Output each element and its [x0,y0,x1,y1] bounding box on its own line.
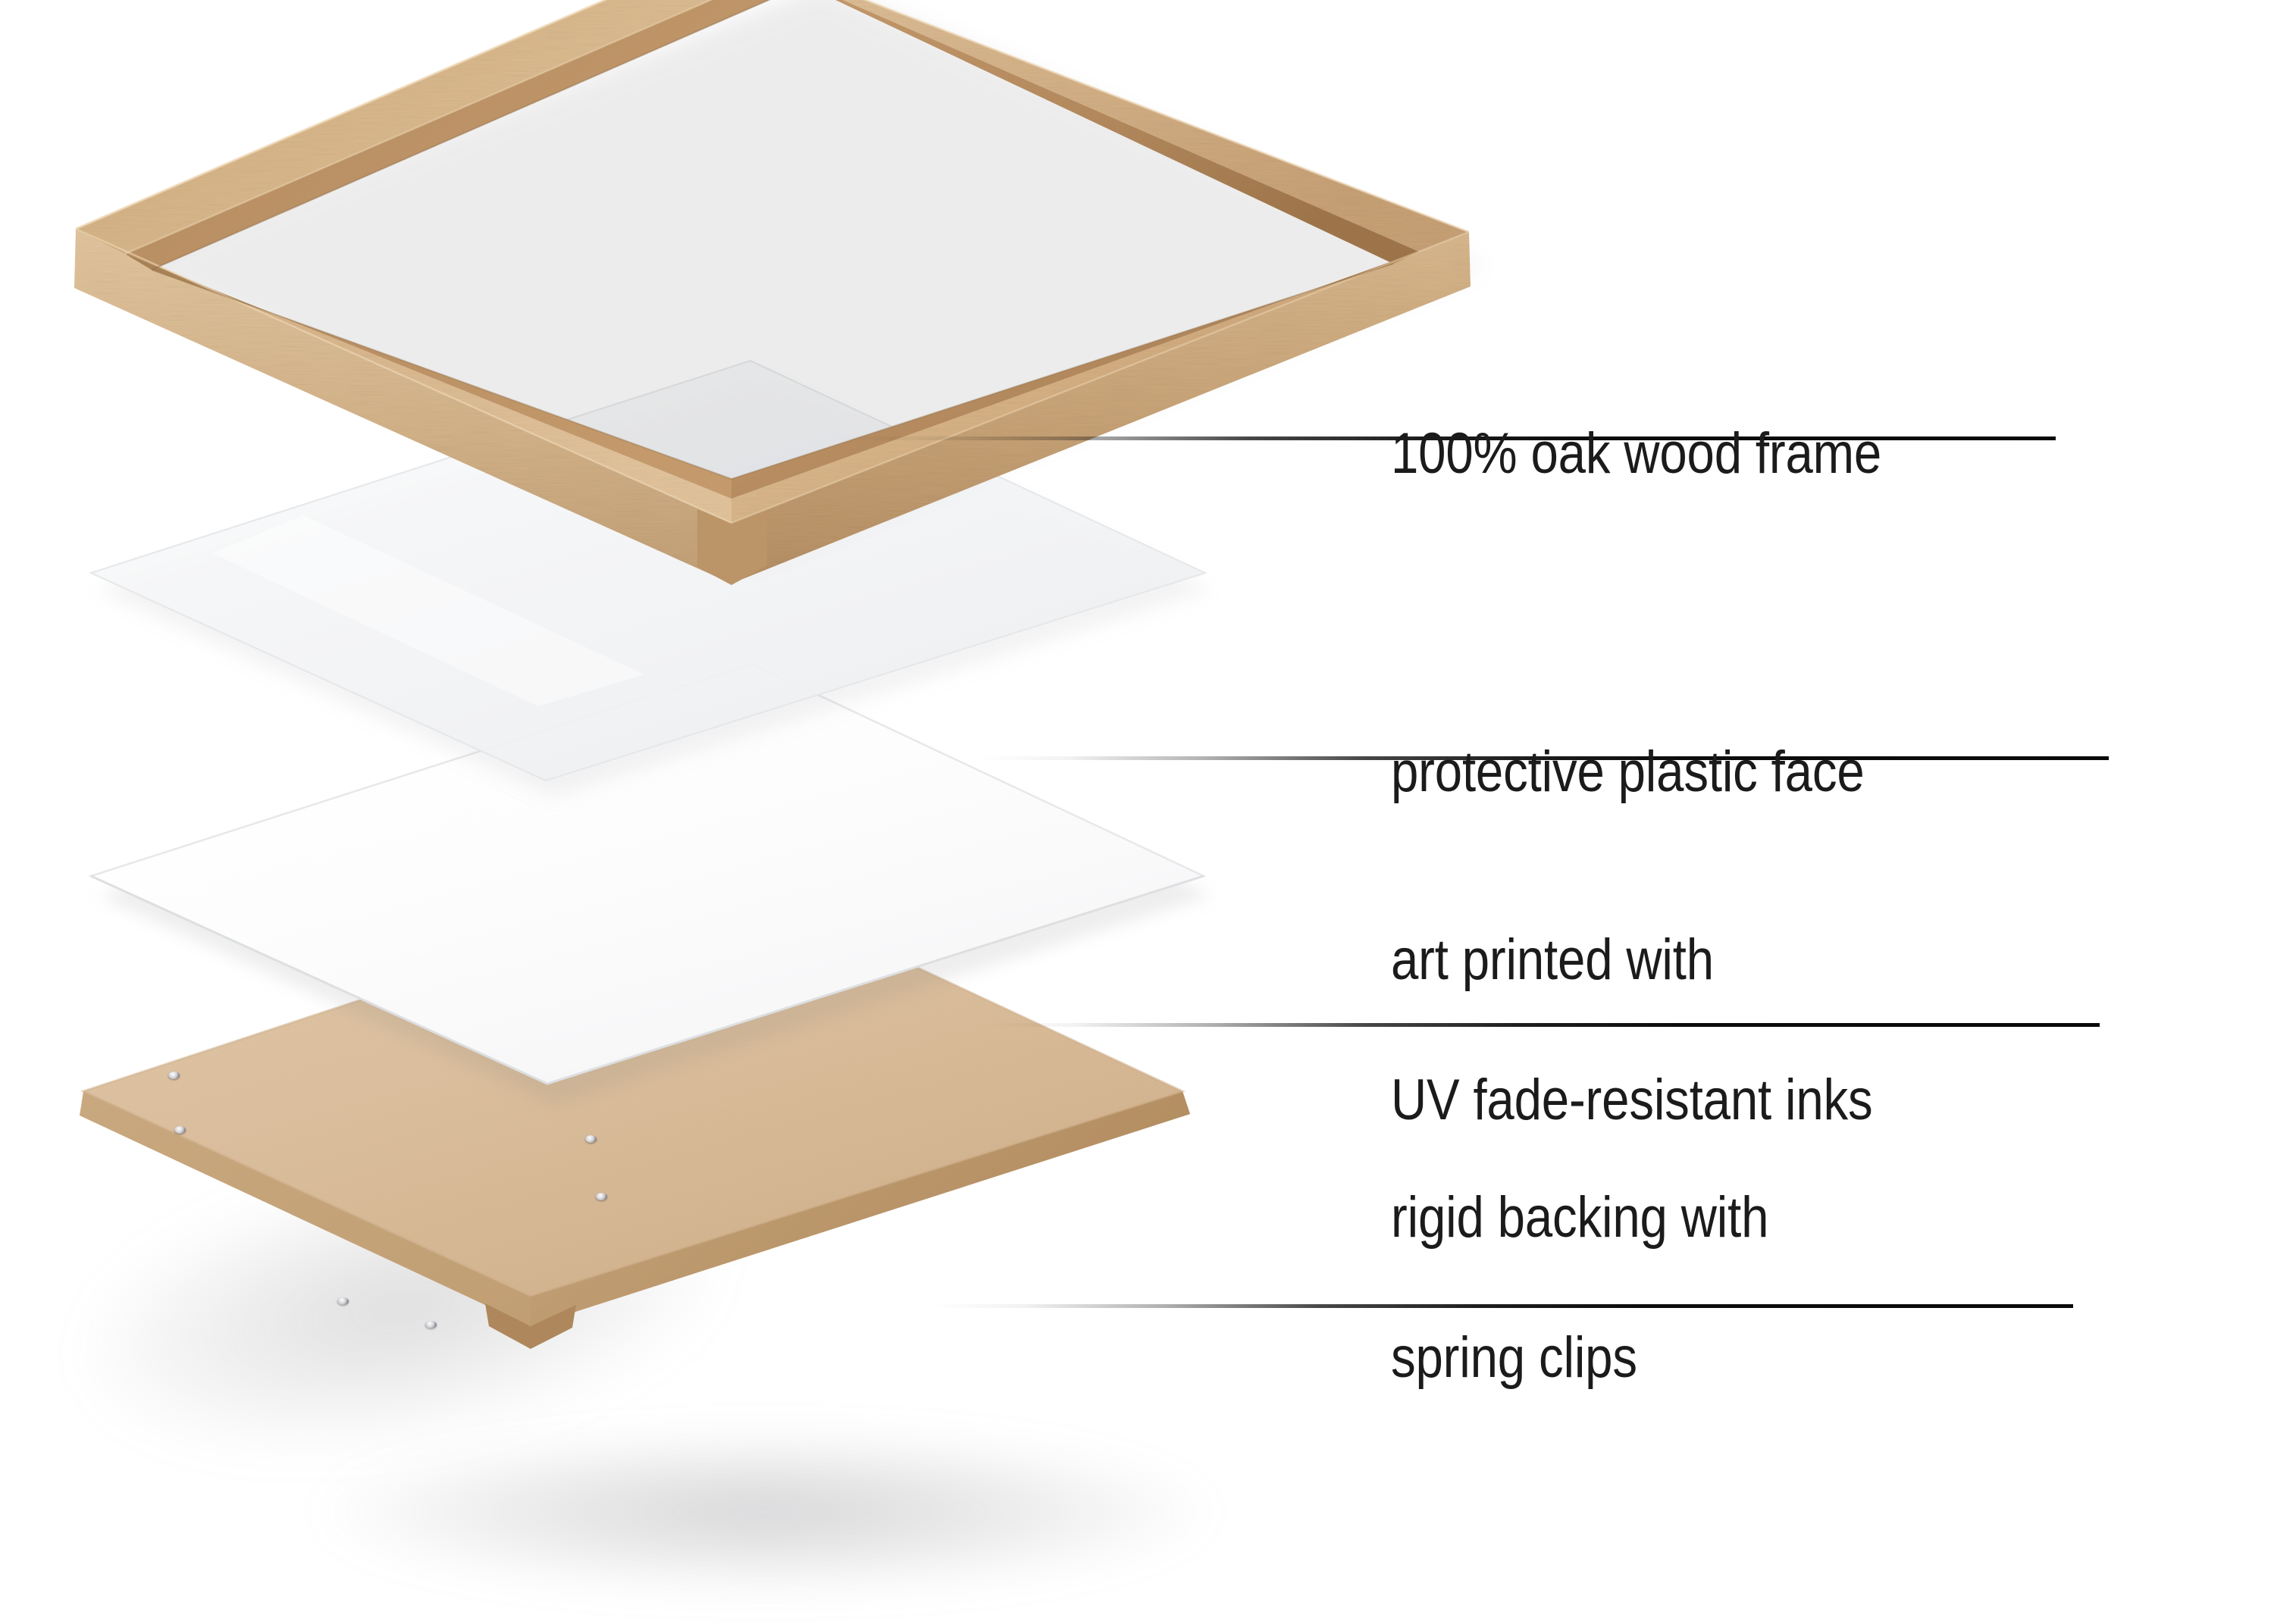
label-line: protective plastic face [1391,737,1865,808]
label-line: rigid backing with [1391,1183,1768,1253]
oak-wood-frame [45,136,1501,818]
exploded-view-diagram: 100% oak wood frame protective plastic f… [0,0,2274,1624]
label-protective-plastic-face: protective plastic face [1391,667,1865,878]
label-rigid-backing: rigid backing with spring clips [1391,1112,1768,1464]
label-line: 100% oak wood frame [1391,419,1881,490]
spring-clip [425,1321,437,1328]
label-line: art printed with [1391,925,1873,996]
label-oak-wood-frame: 100% oak wood frame [1391,349,1881,559]
label-line: spring clips [1391,1323,1768,1394]
